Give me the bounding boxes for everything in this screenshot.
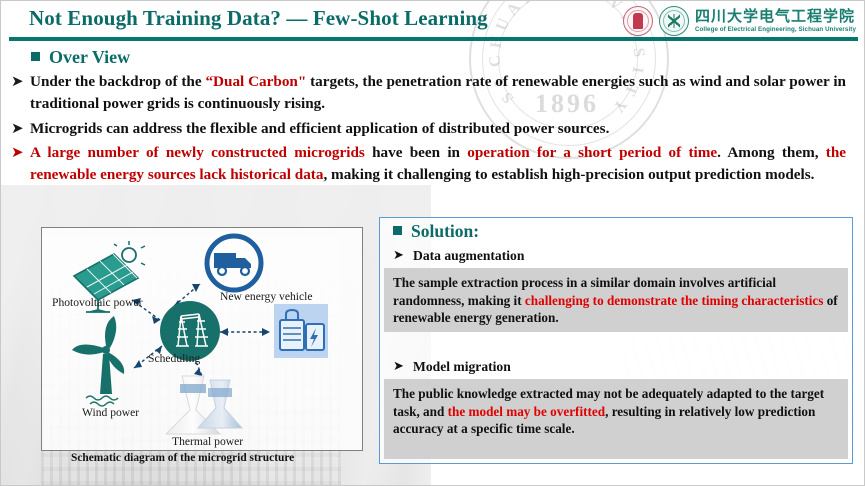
figure-caption: Schematic diagram of the microgrid struc… [71, 452, 371, 464]
text-segment-0: Under the backdrop of the [30, 73, 205, 90]
university-branding: 四川大学电气工程学院 College of Electrical Enginee… [623, 5, 856, 37]
overview-heading-label: Over View [49, 47, 130, 67]
overview-bullet-2: ➤Microgrids can address the flexible and… [11, 118, 856, 140]
battery-storage-icon [274, 304, 328, 358]
title-underline [9, 37, 858, 41]
text-segment-1: challenging to demonstrate the timing ch… [525, 293, 824, 308]
text-segment-2: operation for a short period of time [467, 144, 717, 161]
truck-icon [207, 236, 261, 290]
solution-item-model-migration: ➤ Model migration [393, 359, 511, 375]
sichuan-university-logo-icon [623, 6, 653, 36]
cooling-tower-icon [166, 376, 242, 434]
college-logo-icon [659, 6, 689, 36]
square-bullet-icon [31, 52, 40, 61]
text-segment-1: “Dual Carbon" [205, 73, 306, 90]
overview-bullet-list: ➤Under the backdrop of the “Dual Carbon"… [11, 71, 856, 189]
text-segment-5: , making it challenging to establish hig… [323, 166, 814, 183]
label-photovoltaic-power: Photovoltaic power [52, 296, 142, 309]
overview-heading: Over View [31, 47, 130, 68]
label-scheduling: Scheduling [148, 352, 200, 365]
text-segment-0: A large number of newly constructed micr… [30, 144, 365, 161]
arrow-bullet-icon-2: ➤ [393, 359, 413, 374]
arrow-bullet-icon: ➤ [393, 248, 413, 263]
overview-bullet-text-1: Under the backdrop of the “Dual Carbon" … [30, 71, 856, 116]
label-wind-power: Wind power [82, 406, 139, 419]
wind-turbine-icon [72, 316, 124, 406]
solution-heading: Solution: [393, 221, 479, 242]
solution-body-data-augmentation: The sample extraction process in a simil… [384, 268, 848, 332]
arrow-bullet-icon-overview-2: ➤ [11, 118, 30, 140]
text-segment-3: . Among them, [717, 144, 826, 161]
text-segment-1: have been in [365, 144, 467, 161]
square-bullet-icon-solution [393, 226, 402, 235]
overview-bullet-1: ➤Under the backdrop of the “Dual Carbon"… [11, 71, 856, 116]
arrow-bullet-icon-overview-1: ➤ [11, 71, 30, 93]
arrow-bullet-icon-overview-3: ➤ [11, 142, 30, 164]
solution-item-label: Data augmentation [413, 248, 524, 264]
microgrid-diagram: Photovoltaic power Wind power New energy… [41, 227, 363, 451]
branding-english-name: College of Electrical Engineering, Sichu… [695, 26, 856, 33]
solution-item-label-2: Model migration [413, 359, 511, 375]
overview-bullet-text-2: Microgrids can address the flexible and … [30, 118, 856, 140]
text-segment-1: the model may be overfitted [448, 404, 605, 419]
solution-heading-label: Solution: [411, 221, 479, 241]
label-thermal-power: Thermal power [172, 435, 243, 448]
branding-chinese-name: 四川大学电气工程学院 [695, 9, 856, 24]
solution-item-data-augmentation: ➤ Data augmentation [393, 248, 524, 264]
overview-bullet-text-3: A large number of newly constructed micr… [30, 142, 856, 187]
slide-canvas: SICHUANUNIVERSITY 1896 Not Enough Traini… [0, 0, 865, 486]
text-segment-0: Microgrids can address the flexible and … [30, 120, 609, 137]
solution-body-model-migration: The public knowledge extracted may not b… [384, 379, 848, 459]
label-new-energy-vehicle: New energy vehicle [220, 290, 313, 303]
overview-bullet-3: ➤A large number of newly constructed mic… [11, 142, 856, 187]
page-title: Not Enough Training Data? — Few-Shot Lea… [29, 6, 488, 31]
